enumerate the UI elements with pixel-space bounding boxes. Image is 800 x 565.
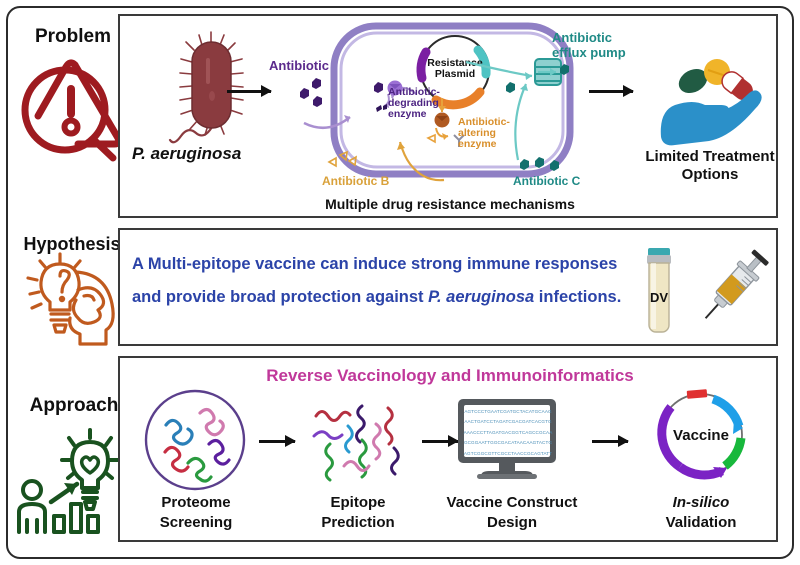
arrow-step2-to-step3 [422, 440, 458, 443]
hypothesis-line-2: and provide broad protection against P. … [132, 288, 621, 307]
hypothesis-lightbulb-head-icon [20, 252, 126, 350]
step-1-label-2: Screening [140, 514, 252, 531]
hypothesis-line-2-prefix: and provide broad protection against [132, 288, 428, 306]
vaccine-vial-icon: DV [636, 246, 682, 336]
efflux-pump-label-1: Antibiotic [552, 30, 612, 45]
vaccine-plasmid-icon: Vaccine [645, 382, 757, 488]
hypothesis-line-1: A Multi-epitope vaccine can induce stron… [132, 255, 617, 274]
scientific-graphical-abstract: Problem [0, 0, 800, 565]
hypothesis-line-2-suffix: infections. [534, 288, 621, 306]
proteome-screening-icon [142, 387, 248, 493]
organism-label: P. aeruginosa [132, 144, 241, 164]
antibiotic-b-particles [328, 152, 364, 174]
step-1-label-1: Proteome [140, 494, 252, 511]
antibiotic-a-entry-arrow [302, 95, 382, 135]
dna-sequence-display: AGTCCCTGAATCGATGCTACATGCAAG AACTGATCCTAG… [463, 404, 553, 458]
antibiotic-c-particles [518, 155, 570, 173]
approach-heading: Reverse Vaccinology and Immunoinformatic… [200, 366, 700, 386]
dna-sequence-line: AGTCCCTGAATCGATGCTACATGCAAG [463, 407, 553, 417]
arrow-bacteria-to-cell [227, 90, 271, 93]
dna-sequence-line: AAACCCTTAGATGACGGTCAGCCGCAA [463, 428, 553, 438]
outcome-label-1: Limited Treatment [630, 148, 790, 165]
step-4-label-1: In-silico [640, 494, 762, 511]
dna-sequence-line: AACTGATCCTAGATCGACGATCACGTG [463, 417, 553, 427]
row-label-approach: Approach [14, 395, 134, 417]
step-3-label-1: Vaccine Construct [442, 494, 582, 511]
antibiotic-c-label: Antibiotic C [513, 174, 580, 188]
plasmid-center-label: Vaccine [673, 427, 729, 444]
antibiotic-c-efflux-arrows [460, 50, 590, 170]
approach-growth-lightbulb-icon [14, 428, 124, 536]
vial-label: DV [650, 290, 668, 305]
dna-sequence-line: AGTCGGCGTTCGCCTAACCGCAGTATT [463, 449, 553, 458]
step-4-label-2: Validation [640, 514, 762, 531]
epitope-prediction-icon [300, 390, 416, 490]
outcome-label-2: Options [630, 166, 790, 183]
step-3-label-2: Design [442, 514, 582, 531]
hypothesis-line-2-species: P. aeruginosa [428, 288, 534, 306]
dna-sequence-line: GCGGAATTGGCGACATAACAAGTACTG [463, 438, 553, 448]
bacteria-p-aeruginosa-icon [168, 28, 260, 146]
antibiotic-b-entry-arrow [390, 136, 446, 182]
problem-caption: Multiple drug resistance mechanisms [250, 196, 650, 212]
problem-warning-icon [18, 48, 126, 166]
degrading-enzyme-label-3: enzyme [388, 108, 427, 120]
antibiotic-b-label: Antibiotic B [322, 174, 389, 188]
arrow-step1-to-step2 [259, 440, 295, 443]
arrow-step3-to-step4 [592, 440, 628, 443]
step-2-label-2: Prediction [298, 514, 418, 531]
step-2-label-1: Epitope [298, 494, 418, 511]
arrow-cell-to-outcome [589, 90, 633, 93]
limited-treatment-hand-pills-icon [655, 55, 767, 147]
syringe-icon [690, 244, 772, 336]
row-label-problem: Problem [18, 26, 128, 48]
